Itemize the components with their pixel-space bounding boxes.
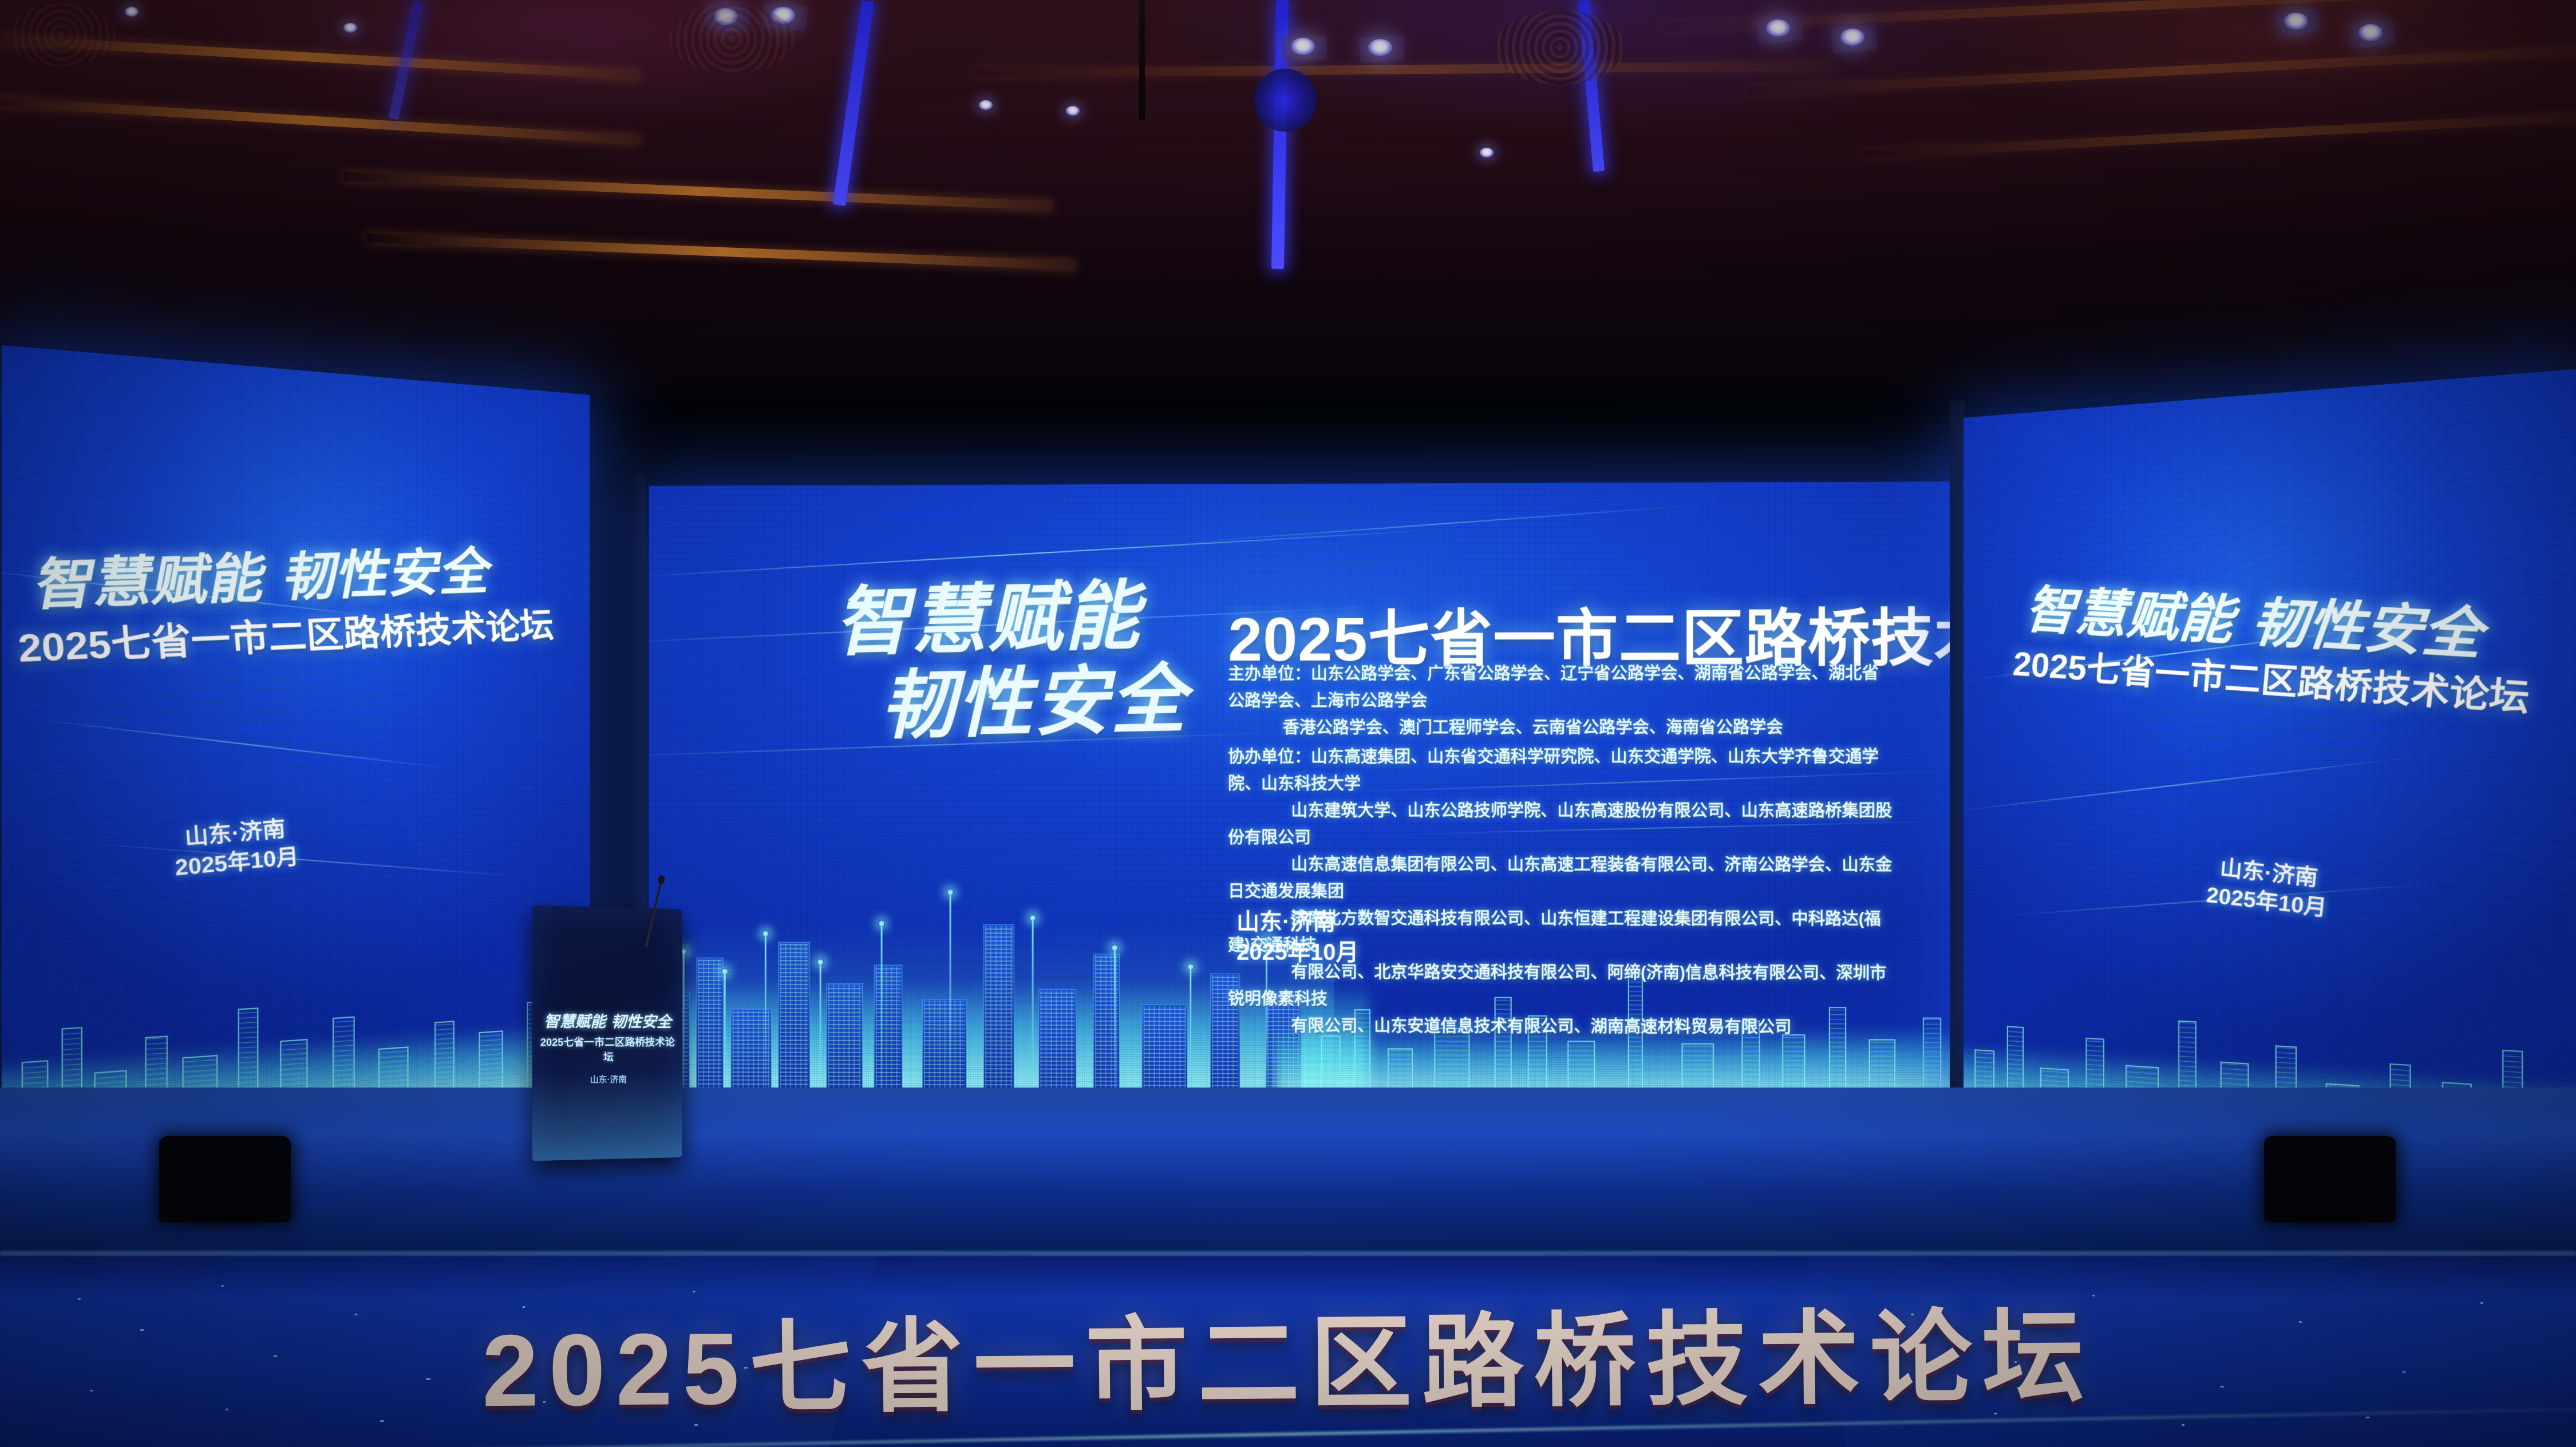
left-led-screen[interactable]: 智慧赋能 韧性安全 2025七省一市二区路桥技术论坛 山东·济南 2025年10… — [2, 345, 590, 1143]
co-organizers-label: 协办单位： — [1228, 748, 1311, 766]
co-organizers-line6: 有限公司、山东安道信息技术有限公司、湖南高速材料贸易有限公司 — [1228, 1013, 1895, 1041]
photo-building — [1038, 989, 1076, 1096]
photo-building — [826, 983, 862, 1094]
main-slogan-line2: 韧性安全 — [880, 659, 1201, 746]
ceiling-spotlight — [2284, 13, 2308, 30]
ceiling-blue-disc — [1254, 69, 1317, 132]
right-led-screen[interactable]: 智慧赋能 韧性安全 2025七省一市二区路桥技术论坛 山东·济南 2025年10… — [1963, 369, 2576, 1165]
street-light-pole — [819, 962, 821, 1094]
stage-floor — [0, 1088, 2576, 1276]
stage-speaker-left — [159, 1136, 291, 1222]
ceiling-downlight — [125, 7, 139, 17]
podium-body: 智慧赋能 韧性安全 2025七省一市二区路桥技术论坛 山东·济南 — [532, 906, 682, 1161]
podium-slogan: 智慧赋能 韧性安全 — [540, 1009, 675, 1031]
co-organizers-line1: 山东高速集团、山东省交通科学研究院、山东交通学院、山东大学齐鲁交通学院、山东科技… — [1228, 748, 1879, 793]
photo-building — [922, 999, 966, 1095]
screen-noise-texture — [1963, 369, 2576, 1165]
ceiling-spotlight — [1368, 39, 1392, 56]
ceiling-downlight — [1066, 106, 1080, 116]
light-streak — [30, 718, 450, 769]
main-screen-organizer-block: 主办单位：山东公路学会、广东省公路学会、辽宁省公路学会、湖南省公路学会、湖北省公… — [1228, 661, 1895, 1044]
main-screen-slogan: 智慧赋能 韧性安全 — [833, 575, 1201, 747]
street-light-pole — [765, 934, 767, 1094]
main-led-screen[interactable]: 智慧赋能 韧性安全 2025七省一市二区路桥技术论坛 主办单位：山东公路学会、广… — [649, 481, 1977, 1098]
main-screen-date: 2025年10月 — [1236, 938, 1358, 968]
ceiling — [0, 0, 2576, 401]
podium-title: 2025七省一市二区路桥技术论坛 — [538, 1034, 677, 1065]
photo-building — [874, 965, 903, 1095]
street-light-pole — [881, 924, 883, 1095]
ceiling-downlight — [1480, 148, 1494, 157]
ceiling-spotlight — [1766, 19, 1790, 37]
left-screen-where: 山东·济南 2025年10月 — [172, 814, 299, 883]
street-light-pole — [1032, 918, 1033, 1095]
podium[interactable]: 智慧赋能 韧性安全 2025七省一市二区路桥技术论坛 山东·济南 — [532, 906, 682, 1161]
main-screen-location: 山东·济南 — [1236, 907, 1358, 938]
street-light-pole — [1114, 948, 1116, 1095]
photo-building — [697, 958, 724, 1094]
main-screen-where: 山东·济南 2025年10月 — [1236, 907, 1358, 968]
ceiling-ring-ornament — [1494, 10, 1626, 85]
street-light-pole — [683, 952, 685, 1094]
banner-title-text: 2025七省一市二区路桥技术论坛 — [0, 1270, 2576, 1440]
co-organizers-line2: 山东建筑大学、山东公路技师学院、山东高速股份有限公司、山东高速路桥集团股份有限公… — [1228, 798, 1895, 852]
photo-building — [1141, 1004, 1187, 1096]
ceiling-downlight — [343, 23, 357, 33]
stage-floor-sheen — [0, 1088, 2576, 1276]
light-streak — [649, 529, 1440, 578]
main-slogan-line1: 智慧赋能 — [833, 571, 1141, 667]
stage-front-banner: 2025七省一市二区路桥技术论坛 — [0, 1256, 2576, 1447]
light-streak — [1963, 757, 2413, 812]
co-organizers-line3: 山东高速信息集团有限公司、山东高速工程装备有限公司、济南公路学会、山东金日交通发… — [1228, 852, 1895, 906]
street-light-pole — [1190, 967, 1191, 1096]
venue-stage-photo: 智慧赋能 韧性安全 2025七省一市二区路桥技术论坛 山东·济南 2025年10… — [0, 0, 2576, 1447]
ceiling-ring-ornament — [669, 5, 795, 73]
ceiling-ring-ornament — [7, 3, 116, 66]
organizers-label: 主办单位： — [1228, 665, 1311, 683]
organizers-line1: 山东公路学会、广东省公路学会、辽宁省公路学会、湖南省公路学会、湖北省公路学会、上… — [1228, 665, 1879, 710]
podium-location: 山东·济南 — [538, 1073, 677, 1086]
screen-noise-texture — [2, 345, 590, 1143]
skyline-building — [1923, 1018, 1941, 1098]
ceiling-hanging-rod — [1139, 0, 1145, 120]
light-streak — [82, 842, 526, 877]
light-streak — [1176, 504, 1707, 543]
ceiling-spotlight — [1291, 38, 1315, 55]
photo-building — [983, 924, 1014, 1095]
organizers-block: 主办单位：山东公路学会、广东省公路学会、辽宁省公路学会、湖南省公路学会、湖北省公… — [1228, 661, 1895, 742]
right-screen-where: 山东·济南 2025年10月 — [2205, 853, 2330, 923]
right-screen-bezel — [1950, 401, 1965, 1116]
street-light-pole — [724, 972, 725, 1094]
photo-building — [779, 942, 810, 1094]
stage-speaker-right — [2264, 1136, 2396, 1222]
ceiling-downlight — [979, 100, 993, 110]
street-light-pole — [949, 892, 951, 1095]
ceiling-spotlight — [1840, 29, 1864, 46]
co-organizers-block: 协办单位：山东高速集团、山东省交通科学研究院、山东交通学院、山东大学齐鲁交通学院… — [1228, 744, 1895, 1041]
ceiling-spotlight — [2358, 24, 2383, 41]
organizers-line2: 香港公路学会、澳门工程师学会、云南省公路学会、海南省公路学会 — [1228, 714, 1895, 742]
